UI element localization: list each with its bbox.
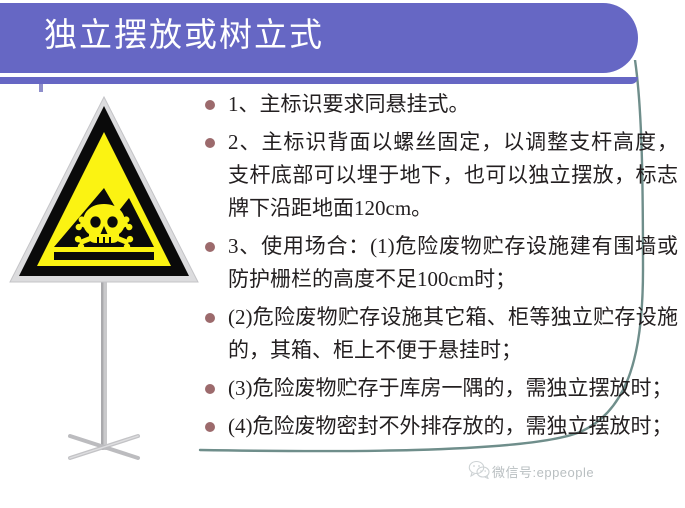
list-item: 2、主标识背面以螺丝固定，以调整支杆高度，支杆底部可以埋于地下，也可以独立摆放，… <box>200 126 678 225</box>
bullet-list: 1、主标识要求同悬挂式。 2、主标识背面以螺丝固定，以调整支杆高度，支杆底部可以… <box>200 88 678 448</box>
list-item: (3)危险废物贮存于库房一隅的，需独立摆放时； <box>200 372 678 405</box>
warning-sign-illustration <box>8 92 203 472</box>
watermark-text: 微信号:eppeople <box>492 462 594 481</box>
title-lower-band <box>0 77 638 84</box>
list-item: (4)危险废物密封不外排存放的，需独立摆放时； <box>200 410 678 443</box>
slide-canvas: 独立摆放或树立式 <box>0 0 685 508</box>
list-item: 3、使用场合：(1)危险废物贮存设施建有围墙或防护栅栏的高度不足100cm时； <box>200 230 678 296</box>
title-underline <box>0 73 634 77</box>
sign-pole <box>101 278 107 450</box>
list-item: (2)危险废物贮存设施其它箱、柜等独立贮存设施的，其箱、柜上不便于悬挂时； <box>200 301 678 367</box>
slide-title: 独立摆放或树立式 <box>44 15 324 57</box>
pictogram-baseline-bar <box>54 252 154 260</box>
title-tick-mark <box>39 84 43 92</box>
list-item: 1、主标识要求同悬挂式。 <box>200 88 678 121</box>
wechat-logo-icon <box>468 460 490 479</box>
